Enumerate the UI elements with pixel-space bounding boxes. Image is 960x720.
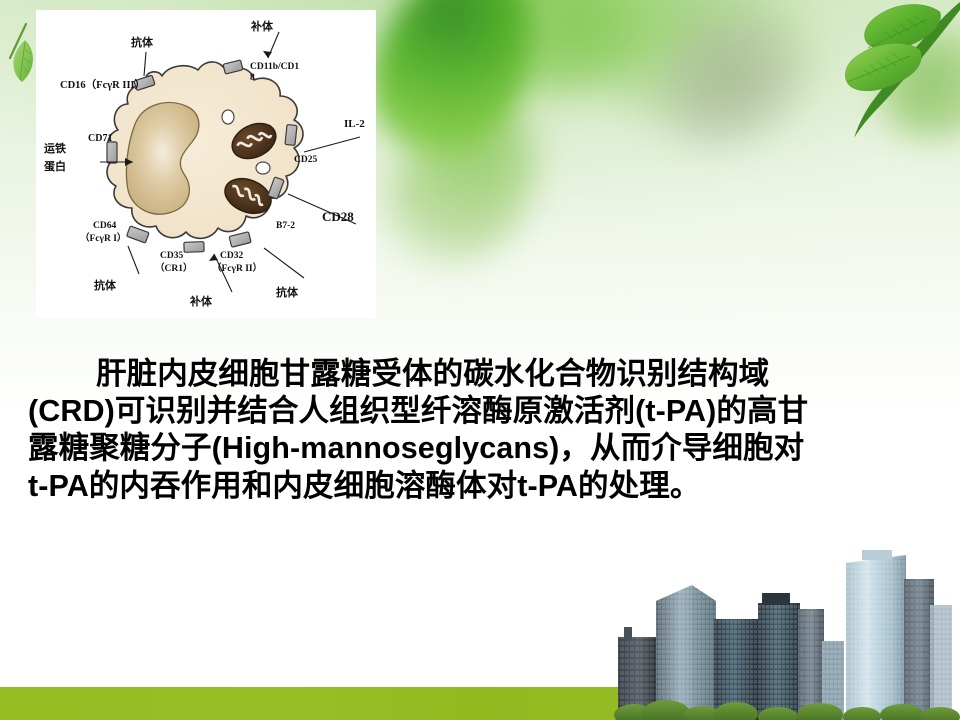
diagram-label-cd71: CD71	[88, 133, 112, 144]
cell-diagram-card: 抗体 补体 CD16（FcγR III） CD11b/CD1 8 IL-2 CD…	[36, 10, 376, 318]
paragraph-line-1: 肝脏内皮细胞甘露糖受体的碳水化合物识别结构域	[28, 356, 932, 393]
cityscape-image	[610, 545, 960, 720]
paragraph-line-3: 露糖聚糖分子(High-mannoseglycans)，从而介导细胞对	[28, 430, 932, 467]
paragraph-line-1-text: 肝脏内皮细胞甘露糖受体的碳水化合物识别结构域	[96, 357, 769, 391]
diagram-label-cd32: CD32	[220, 251, 243, 261]
diagram-label-cd25: CD25	[294, 155, 317, 165]
immune-cell-diagram: 抗体 补体 CD16（FcγR III） CD11b/CD1 8 IL-2 CD…	[36, 10, 376, 318]
slide-canvas: 抗体 补体 CD16（FcγR III） CD11b/CD1 8 IL-2 CD…	[0, 0, 960, 720]
diagram-label-il2: IL-2	[344, 118, 365, 130]
diagram-label-antibody-right: 抗体	[276, 285, 299, 299]
diagram-label-cd16: CD16（FcγR III）	[60, 78, 145, 91]
diagram-label-antibody-left: 抗体	[94, 278, 117, 292]
diagram-label-cd11b: CD11b/CD1	[250, 62, 299, 72]
diagram-label-cd64: CD64	[93, 221, 116, 231]
leaf-branch-icon	[830, 0, 960, 150]
diagram-label-cd64-sub: （FcγR I）	[80, 232, 126, 244]
diagram-label-b72: B7-2	[276, 221, 295, 231]
diagram-label-cd35-sub: （CR1）	[155, 262, 192, 274]
paragraph-line-4: t-PA的内吞作用和内皮细胞溶酶体对t-PA的处理。	[28, 468, 932, 505]
diagram-label-complement-bottom: 补体	[189, 294, 213, 308]
diagram-label-transferrin-1: 运铁	[44, 141, 66, 155]
diagram-label-cd11b-cont: 8	[250, 73, 255, 83]
paragraph-line-2: (CRD)可识别并结合人组织型纤溶酶原激活剂(t-PA)的高甘	[28, 393, 932, 430]
content-paragraph: 肝脏内皮细胞甘露糖受体的碳水化合物识别结构域 (CRD)可识别并结合人组织型纤溶…	[28, 356, 932, 505]
diagram-label-cd35: CD35	[160, 251, 183, 261]
diagram-label-cd28: CD28	[322, 209, 354, 224]
diagram-label-transferrin-2: 蛋白	[44, 159, 66, 173]
diagram-label-cd32-sub: （FcγR II）	[212, 262, 262, 274]
diagram-label-antibody-top: 抗体	[131, 35, 154, 49]
diagram-label-complement-top: 补体	[250, 19, 274, 33]
